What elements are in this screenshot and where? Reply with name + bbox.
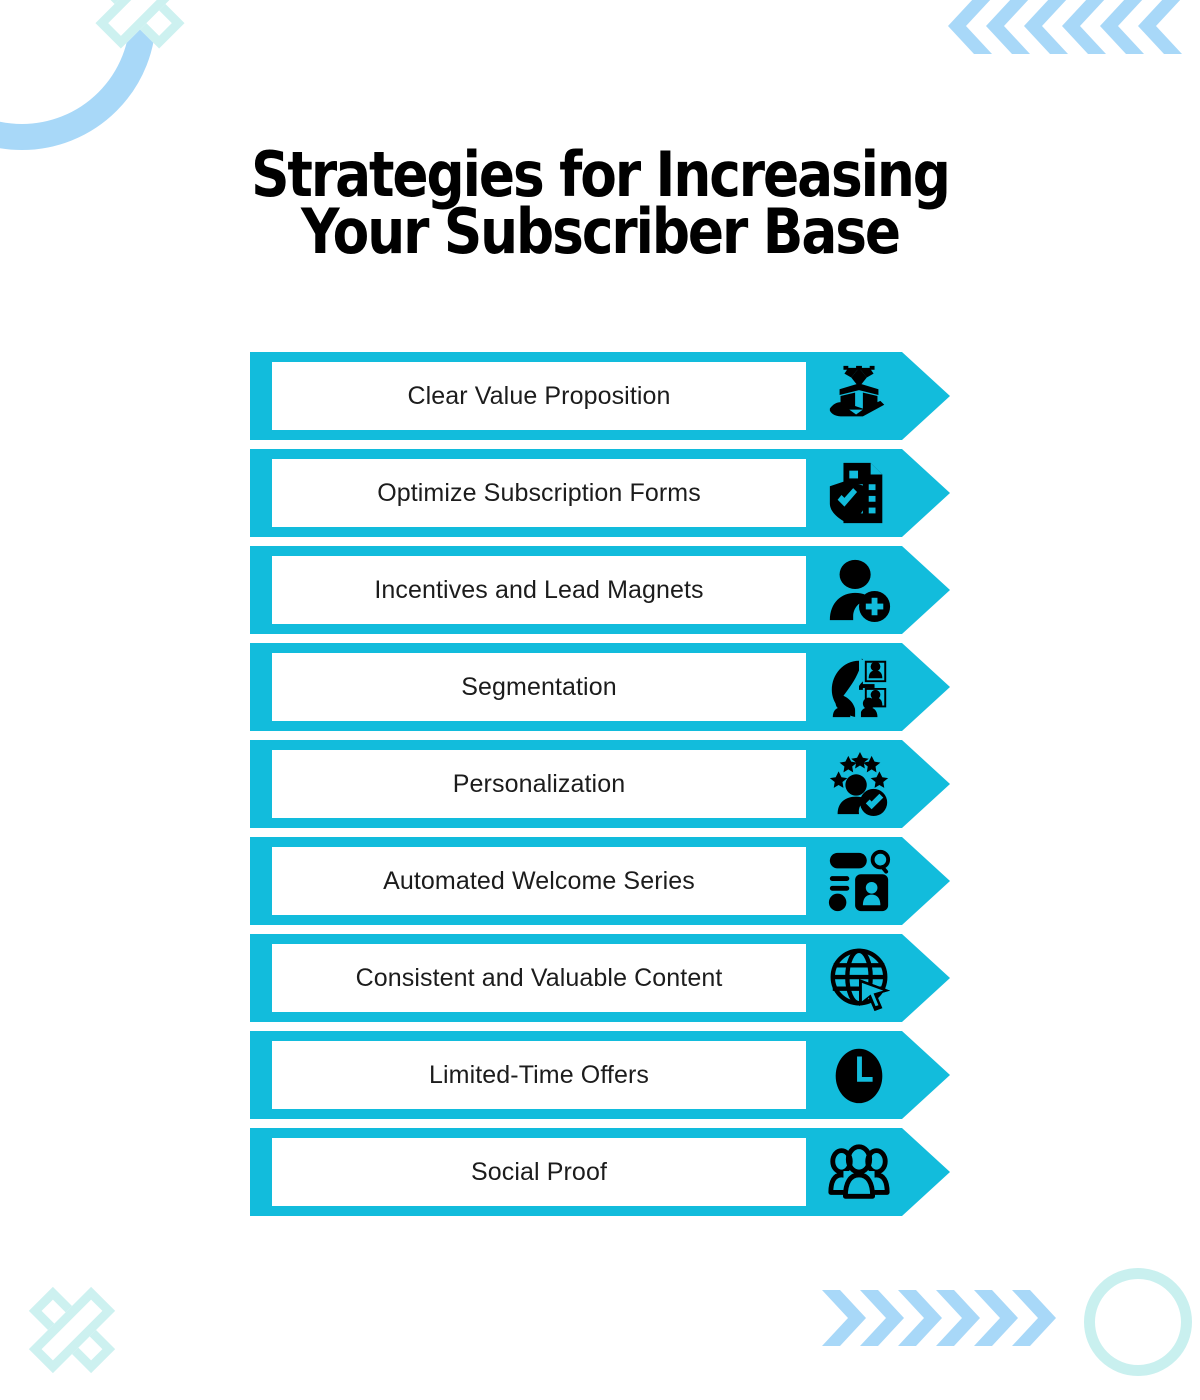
ring-decoration-bottom-right (1084, 1268, 1192, 1376)
gift-box-in-hand-icon (816, 359, 902, 433)
chevron-decoration-top-right (944, 0, 1196, 58)
strategy-list: Clear Value PropositionOptimize Subscrip… (250, 352, 950, 1225)
strategy-row[interactable]: Incentives and Lead Magnets (250, 546, 950, 634)
strategy-label: Optimize Subscription Forms (377, 479, 701, 508)
arc-decoration-top-left (0, 0, 156, 150)
strategy-row[interactable]: Optimize Subscription Forms (250, 449, 950, 537)
people-group-icon (816, 1135, 902, 1209)
strategy-label-box: Limited-Time Offers (272, 1041, 806, 1109)
strategy-label: Incentives and Lead Magnets (374, 576, 703, 605)
strategy-label: Clear Value Proposition (407, 382, 670, 411)
strategy-label-box: Optimize Subscription Forms (272, 459, 806, 527)
strategy-label-box: Segmentation (272, 653, 806, 721)
document-shield-check-icon (816, 456, 902, 530)
add-user-icon (816, 553, 902, 627)
strategy-row[interactable]: Consistent and Valuable Content (250, 934, 950, 1022)
strategy-row[interactable]: Personalization (250, 740, 950, 828)
strategy-label: Automated Welcome Series (383, 867, 695, 896)
strategy-label-box: Social Proof (272, 1138, 806, 1206)
strategy-label-box: Personalization (272, 750, 806, 818)
strategy-label-box: Consistent and Valuable Content (272, 944, 806, 1012)
strategy-row[interactable]: Limited-Time Offers (250, 1031, 950, 1119)
globe-cursor-icon (816, 941, 902, 1015)
strategy-row[interactable]: Clear Value Proposition (250, 352, 950, 440)
strategy-label: Consistent and Valuable Content (356, 964, 723, 993)
strategy-row[interactable]: Social Proof (250, 1128, 950, 1216)
strategy-label-box: Incentives and Lead Magnets (272, 556, 806, 624)
strategy-label: Personalization (453, 770, 625, 799)
strategy-row[interactable]: Automated Welcome Series (250, 837, 950, 925)
user-stars-check-icon (816, 747, 902, 821)
profile-search-card-icon (816, 844, 902, 918)
strategy-label: Limited-Time Offers (429, 1061, 649, 1090)
strategy-label-box: Automated Welcome Series (272, 847, 806, 915)
pie-chart-people-icon (816, 650, 902, 724)
chevron-decoration-bottom-right (820, 1288, 1072, 1350)
strategy-label: Social Proof (471, 1158, 607, 1187)
strategy-row[interactable]: Segmentation (250, 643, 950, 731)
strategy-label-box: Clear Value Proposition (272, 362, 806, 430)
page-title-line-2: Your Subscriber Base (161, 203, 1038, 260)
clock-icon (816, 1038, 902, 1112)
strategy-label: Segmentation (461, 673, 616, 702)
page-title: Strategies for Increasing Your Subscribe… (0, 146, 1200, 260)
